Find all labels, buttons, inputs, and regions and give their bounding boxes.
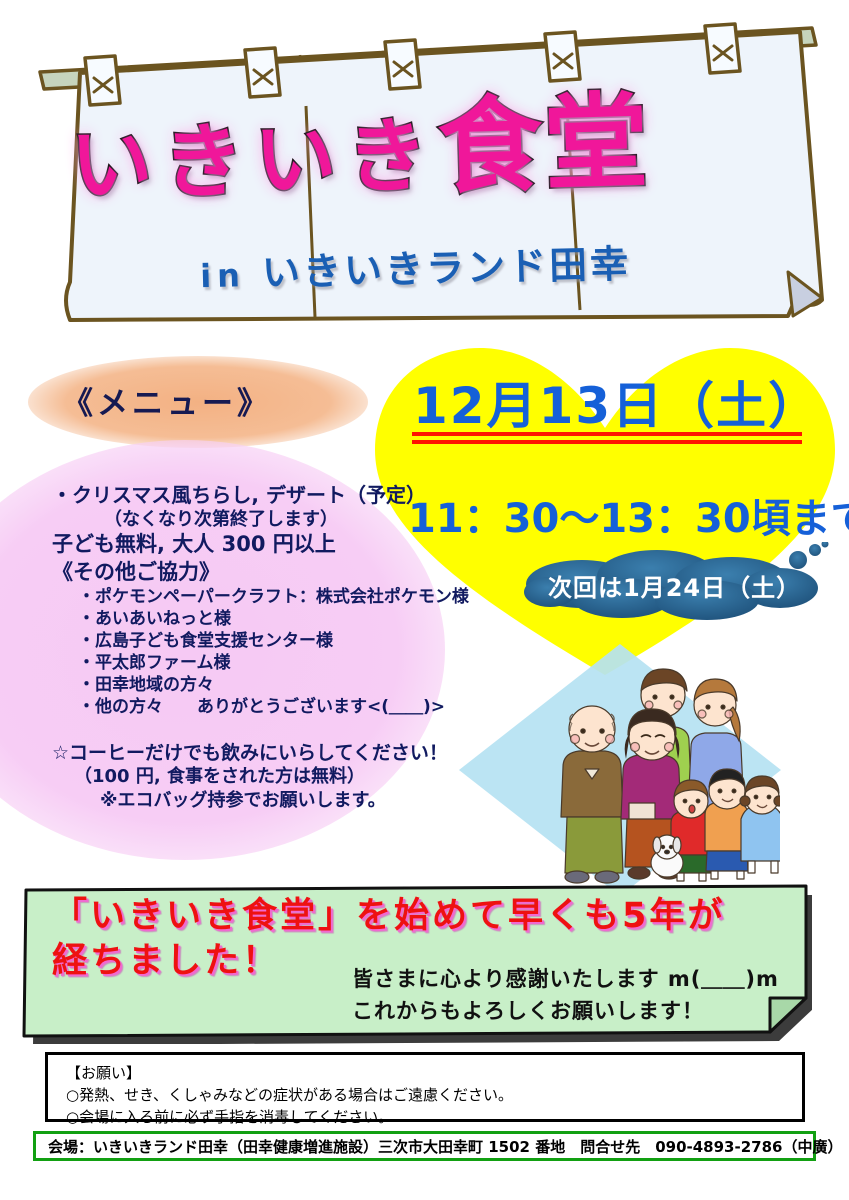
- coffee-note-2: （100 円, 食事をされた方は無料）: [52, 765, 472, 788]
- cooperation-item: ・あいあいねっと様: [52, 608, 472, 630]
- menu-spacer: [52, 719, 472, 741]
- noren-banner: いきいき食堂 in いきいきランド田幸: [0, 0, 849, 345]
- figure-dog: [651, 835, 683, 877]
- page-title: いきいき食堂: [69, 86, 772, 210]
- flyer-page: いきいき食堂 in いきいきランド田幸: [0, 0, 849, 1200]
- coffee-note-3: ※エコバッグ持参でお願いします。: [52, 789, 472, 812]
- event-date: 12月13日（土）: [413, 366, 820, 438]
- anniversary-headline-line1: 「いきいき食堂」を始めて早くも5年が: [52, 894, 812, 939]
- anniversary-thanks: 皆さまに心より感謝いたします m(＿＿)m これからもよろしくお願いします！: [352, 964, 792, 1028]
- title-kanji: 食堂: [436, 81, 651, 209]
- cooperation-item: ・平太郎ファーム様: [52, 652, 472, 674]
- figure-grandfather: [561, 706, 623, 883]
- next-session-text: 次回は1月24日（土）: [548, 568, 801, 603]
- cooperation-item: ・広島子ども食堂支援センター様: [52, 630, 472, 652]
- title-hiragana: いきいき: [69, 109, 440, 214]
- subtitle-venue: いきいきランド田幸: [262, 242, 632, 295]
- venue-contact-bar: 会場：いきいきランド田幸（田幸健康増進施設）三次市大田幸町 1502 番地 問合…: [33, 1131, 816, 1161]
- subtitle-in-word: in: [200, 256, 247, 295]
- page-subtitle: in いきいきランド田幸: [199, 233, 631, 299]
- cooperation-item: ・田幸地域の方々: [52, 674, 472, 696]
- notice-item: ○発熱、せき、くしゃみなどの症状がある場合はご遠慮ください。: [66, 1085, 802, 1107]
- coffee-note-1: ☆コーヒーだけでも飲みにいらしてください！: [52, 741, 472, 766]
- notice-heading: 【お願い】: [66, 1063, 802, 1085]
- thanks-line-2: これからもよろしくお願いします！: [352, 996, 792, 1028]
- thanks-line-1: 皆さまに心より感謝いたします m(＿＿)m: [352, 964, 792, 996]
- figure-girl-blue: [740, 776, 780, 873]
- notice-box: 【お願い】 ○発熱、せき、くしゃみなどの症状がある場合はご遠慮ください。 ○会場…: [45, 1052, 805, 1122]
- event-time: 11：30〜13：30頃まで: [408, 486, 849, 544]
- cooperation-heading: 《その他ご協力》: [52, 559, 472, 586]
- venue-contact-text: 会場：いきいきランド田幸（田幸健康増進施設）三次市大田幸町 1502 番地 問合…: [36, 1136, 842, 1157]
- menu-heading: 《メニュー》: [62, 378, 272, 423]
- cooperation-item: ・他の方々 ありがとうございます<(＿＿)>: [52, 696, 472, 718]
- notice-item: ○会場に入る前に必ず手指を消毒してください。: [66, 1107, 802, 1129]
- date-double-underline: [412, 432, 802, 444]
- family-illustration: [545, 655, 780, 885]
- cooperation-item: ・ポケモンペーパークラフト：株式会社ポケモン様: [52, 586, 472, 608]
